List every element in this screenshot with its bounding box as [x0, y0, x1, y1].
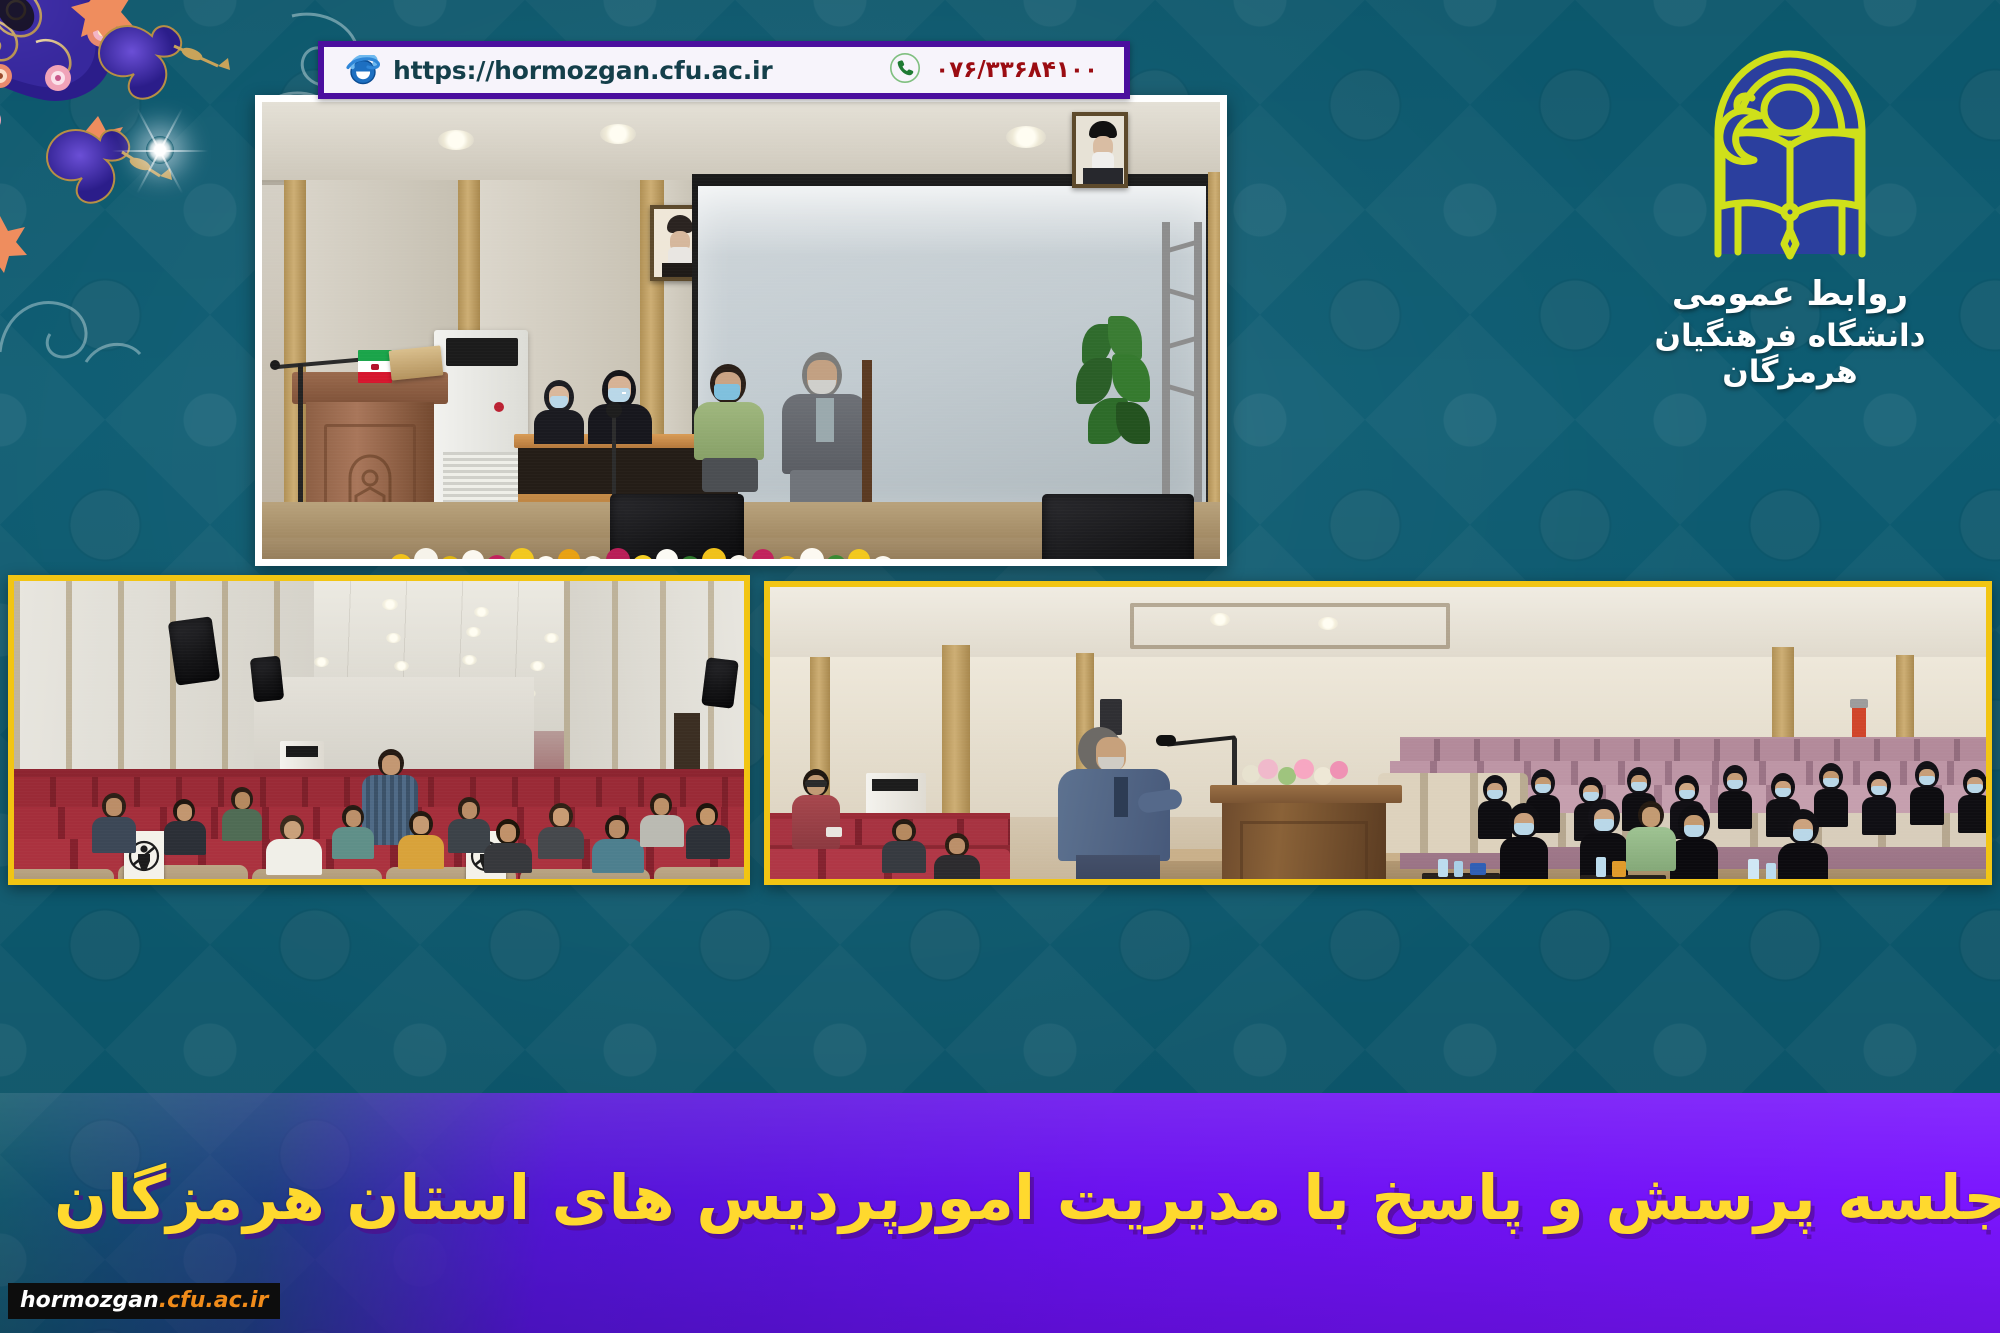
speaker-at-podium-photo — [764, 581, 1992, 885]
watermark-domain: .cfu.ac.ir — [159, 1288, 269, 1313]
internet-explorer-icon — [346, 55, 380, 85]
event-title-text: جلسه پرسش و پاسخ با مدیریت امورپردیس های… — [0, 1165, 2000, 1260]
university-logo-block: روابط عمومی دانشگاه فرهنگیان هرمزگان — [1612, 24, 1968, 390]
watermark-name: hormozgan — [20, 1288, 159, 1313]
panel-session-photo — [255, 95, 1227, 566]
logo-caption-public-relations: روابط عمومی — [1612, 274, 1968, 314]
poster-canvas: https://hormozgan.cfu.ac.ir ۰۷۶/۳۳۶۸۴۱۰۰ — [0, 0, 2000, 1333]
browser-url-bar[interactable]: https://hormozgan.cfu.ac.ir ۰۷۶/۳۳۶۸۴۱۰۰ — [318, 41, 1130, 99]
phone-number: ۰۷۶/۳۳۶۸۴۱۰۰ — [935, 57, 1098, 83]
open-book-arch-emblem-icon — [1664, 24, 1916, 262]
male-students-audience-photo — [8, 575, 750, 885]
url-text: https://hormozgan.cfu.ac.ir — [393, 56, 773, 85]
logo-caption-university: دانشگاه فرهنگیان هرمزگان — [1612, 318, 1968, 390]
site-watermark: hormozgan.cfu.ac.ir — [8, 1283, 280, 1319]
event-title-banner: جلسه پرسش و پاسخ با مدیریت امورپردیس های… — [0, 1093, 2000, 1333]
phone-icon — [889, 52, 921, 88]
